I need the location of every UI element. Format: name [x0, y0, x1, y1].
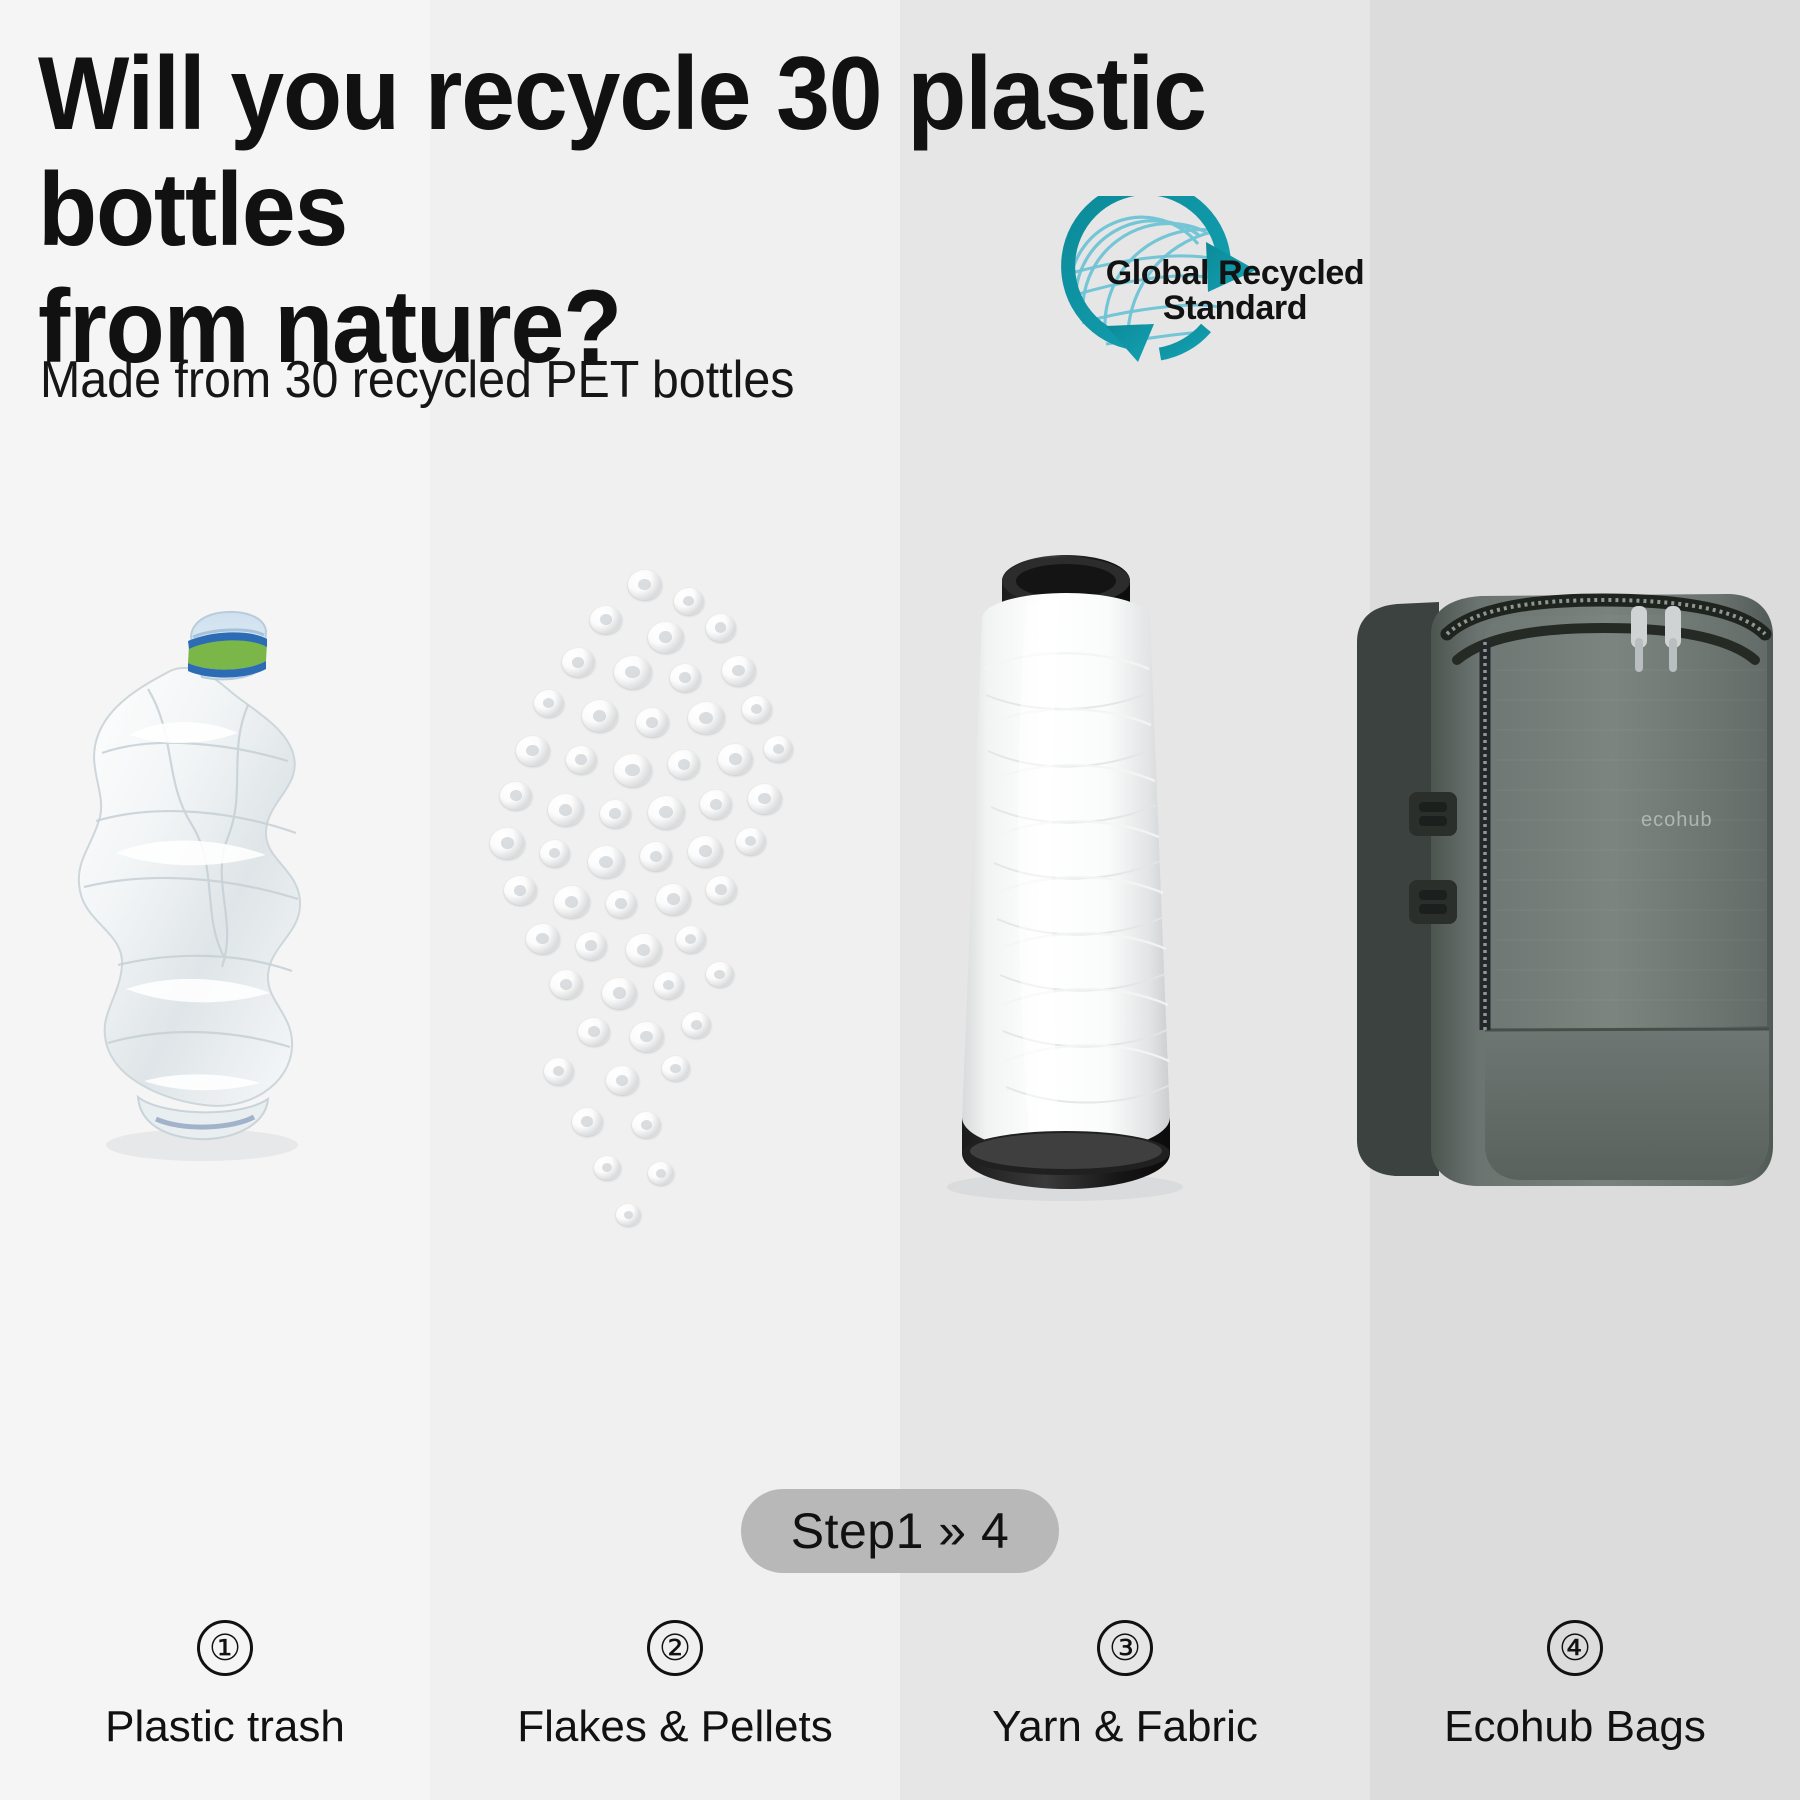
grs-text-line1: Global Recycled	[1106, 254, 1365, 292]
grs-logo-text: Global Recycled Standard	[1085, 256, 1385, 327]
grey-ecohub-backpack-image: ecohub	[1335, 580, 1787, 1200]
step-number-1: ①	[197, 1620, 253, 1676]
crushed-plastic-bottle-image	[52, 585, 352, 1170]
step-number-2: ②	[647, 1620, 703, 1676]
step-legend: ① Plastic trash ② Flakes & Pellets ③ Yar…	[0, 1620, 1800, 1752]
grs-text-line2: Standard	[1163, 289, 1307, 327]
page-subtitle: Made from 30 recycled PET bottles	[40, 352, 794, 409]
step-item-4[interactable]: ④ Ecohub Bags	[1350, 1620, 1800, 1752]
step-number-3: ③	[1097, 1620, 1153, 1676]
step-label-1: Plastic trash	[105, 1702, 345, 1752]
white-yarn-cone-image	[930, 545, 1200, 1205]
infographic-canvas: Will you recycle 30 plastic bottles from…	[0, 0, 1800, 1800]
step-label-4: Ecohub Bags	[1444, 1702, 1706, 1752]
ecohub-brand-mark: ecohub	[1641, 809, 1713, 831]
step-item-3[interactable]: ③ Yarn & Fabric	[900, 1620, 1350, 1752]
step-number-4: ④	[1547, 1620, 1603, 1676]
global-recycled-standard-logo: Global Recycled Standard	[1010, 196, 1380, 366]
step-item-1[interactable]: ① Plastic trash	[0, 1620, 450, 1752]
pet-flakes-pellets-image	[430, 560, 900, 1280]
step-item-2[interactable]: ② Flakes & Pellets	[450, 1620, 900, 1752]
step-label-3: Yarn & Fabric	[992, 1702, 1258, 1752]
step-label-2: Flakes & Pellets	[517, 1702, 832, 1752]
step-progress-badge: Step1 » 4	[741, 1489, 1059, 1573]
